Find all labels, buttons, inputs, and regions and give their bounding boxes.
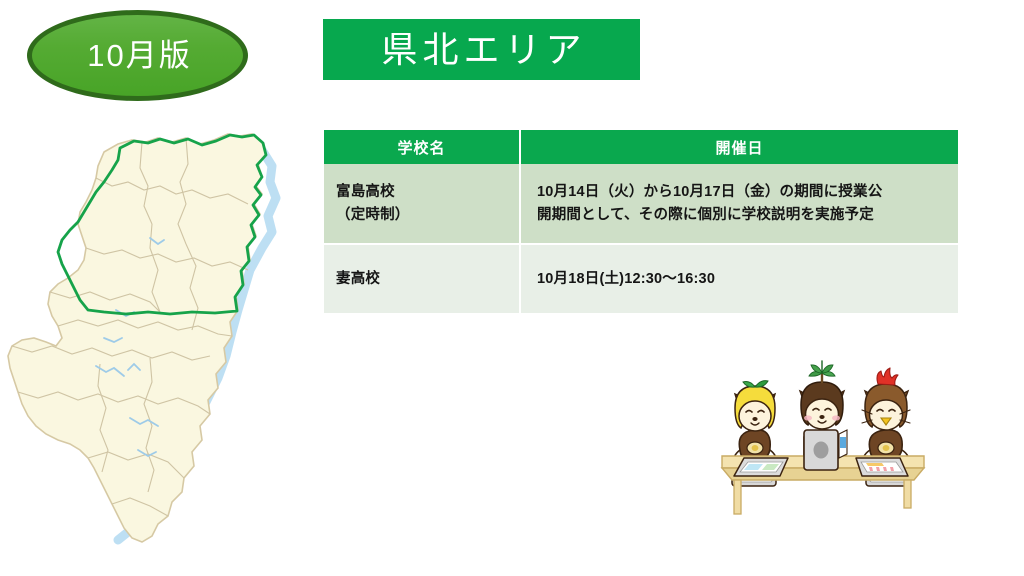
school-name-line: 妻高校 [336, 268, 519, 290]
table-header-row: 学校名 開催日 [324, 130, 958, 164]
miyazaki-prefecture-map [0, 120, 310, 576]
column-header-date: 開催日 [520, 130, 958, 164]
mascots-svg [718, 358, 928, 518]
tablet-device-right [856, 458, 908, 476]
schedule-table: 学校名 開催日 富島高校 （定時制） 10月14日（火）から10月17日（金）の… [324, 130, 958, 315]
table-row: 妻高校 10月18日(土)12:30～16:30 [324, 244, 958, 314]
cell-event-date: 10月18日(土)12:30～16:30 [520, 244, 958, 314]
month-badge-label: 10月版 [83, 40, 191, 71]
column-header-school: 学校名 [324, 130, 520, 164]
event-date-line: 10月18日(土)12:30～16:30 [537, 268, 958, 290]
school-name-line: 富島高校 [336, 181, 519, 203]
three-mascots-with-tablets [718, 358, 928, 518]
map-svg [0, 120, 310, 576]
tablet-device-left [734, 458, 788, 476]
school-name-line: （定時制） [336, 204, 519, 226]
table-row: 富島高校 （定時制） 10月14日（火）から10月17日（金）の期間に授業公 開… [324, 164, 958, 244]
poster-canvas: 10月版 県北エリア 学校名 開催日 富島高校 （定時制） 10月14日（火）か… [0, 0, 1024, 576]
area-banner-label: 県北エリア [376, 32, 586, 68]
palm-tree-decoration [809, 361, 835, 382]
event-date-line: 10月14日（火）から10月17日（金）の期間に授業公 [537, 181, 958, 203]
rooster-comb [877, 368, 898, 385]
cell-event-date: 10月14日（火）から10月17日（金）の期間に授業公 開期間として、その際に個… [520, 164, 958, 244]
area-banner: 県北エリア [323, 19, 640, 80]
cell-school-name: 妻高校 [324, 244, 520, 314]
event-date-line: 開期間として、その際に個別に学校説明を実施予定 [537, 204, 958, 226]
prefecture-landmass [8, 134, 266, 542]
cell-school-name: 富島高校 （定時制） [324, 164, 520, 244]
month-badge: 10月版 [27, 10, 248, 101]
